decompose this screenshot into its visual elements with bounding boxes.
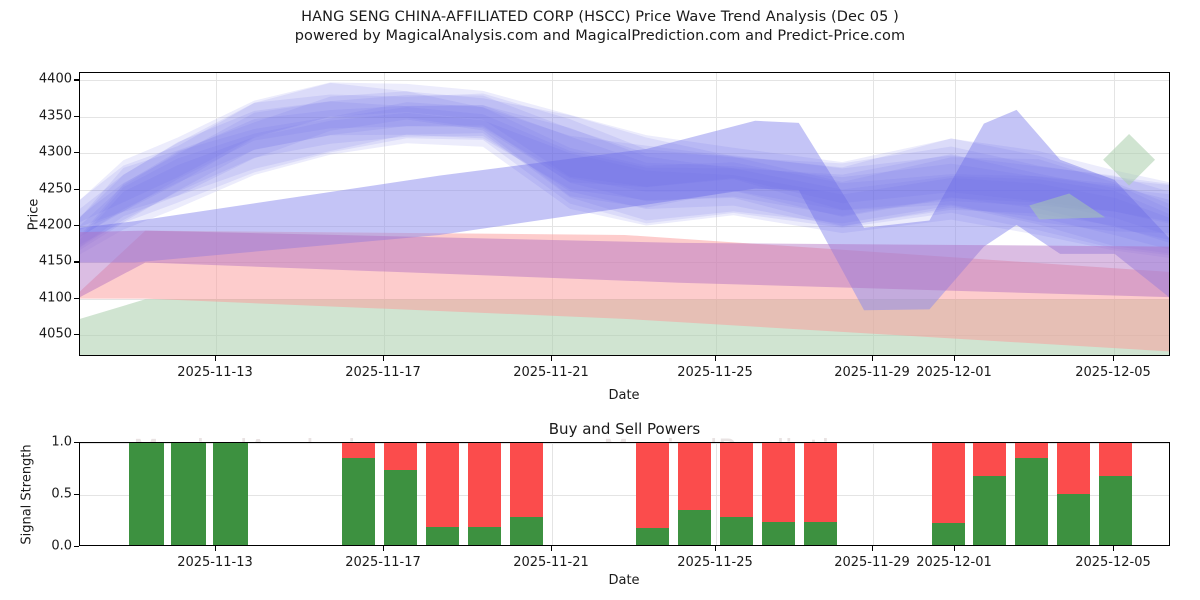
sell-power-segment bbox=[804, 442, 837, 522]
sell-power-segment bbox=[468, 442, 501, 527]
price-y-tick-label: 4300 bbox=[26, 145, 72, 160]
price-x-tick-mark bbox=[383, 356, 384, 361]
price-y-tick-mark bbox=[74, 152, 79, 153]
buy-power-segment bbox=[384, 470, 417, 545]
power-bar[interactable] bbox=[973, 442, 1006, 545]
buy-power-segment bbox=[1099, 476, 1132, 545]
power-chart-title: Buy and Sell Powers bbox=[79, 420, 1170, 438]
buy-power-segment bbox=[1057, 494, 1090, 545]
price-y-tick-label: 4350 bbox=[26, 108, 72, 123]
gridline-vertical bbox=[716, 443, 717, 545]
power-bar[interactable] bbox=[468, 442, 501, 545]
buy-power-segment bbox=[762, 522, 795, 545]
buy-power-segment bbox=[468, 527, 501, 545]
gridline-vertical bbox=[552, 443, 553, 545]
price-x-tick-label: 2025-11-29 bbox=[834, 365, 910, 380]
sell-power-segment bbox=[426, 442, 459, 527]
gridline-vertical bbox=[873, 443, 874, 545]
power-x-tick-mark bbox=[954, 546, 955, 551]
chart-page: HANG SENG CHINA-AFFILIATED CORP (HSCC) P… bbox=[0, 0, 1200, 600]
sell-power-segment bbox=[762, 442, 795, 522]
power-y-tick-label: 1.0 bbox=[38, 435, 72, 450]
sell-power-segment bbox=[384, 442, 417, 470]
power-y-tick-mark bbox=[74, 442, 79, 443]
power-chart-plot-area bbox=[79, 442, 1170, 546]
price-chart-y-axis-title: Price bbox=[27, 175, 42, 255]
power-bar[interactable] bbox=[510, 442, 543, 545]
price-x-tick-mark bbox=[954, 356, 955, 361]
sell-power-segment bbox=[636, 442, 669, 528]
price-y-tick-mark bbox=[74, 116, 79, 117]
buy-power-segment bbox=[804, 522, 837, 545]
page-title: HANG SENG CHINA-AFFILIATED CORP (HSCC) P… bbox=[0, 8, 1200, 27]
chart-title-block: HANG SENG CHINA-AFFILIATED CORP (HSCC) P… bbox=[0, 8, 1200, 46]
power-x-tick-label: 2025-11-29 bbox=[834, 555, 910, 570]
power-bar[interactable] bbox=[213, 442, 248, 545]
buy-power-segment bbox=[720, 517, 753, 545]
price-x-tick-mark bbox=[215, 356, 216, 361]
buy-power-segment bbox=[342, 458, 375, 545]
power-bar[interactable] bbox=[762, 442, 795, 545]
price-x-tick-label: 2025-11-17 bbox=[345, 365, 421, 380]
power-x-tick-mark bbox=[215, 546, 216, 551]
power-x-tick-label: 2025-11-25 bbox=[677, 555, 753, 570]
sell-power-segment bbox=[973, 442, 1006, 476]
page-subtitle: powered by MagicalAnalysis.com and Magic… bbox=[0, 27, 1200, 46]
power-x-tick-mark bbox=[715, 546, 716, 551]
buy-power-segment bbox=[636, 528, 669, 545]
power-bar[interactable] bbox=[1057, 442, 1090, 545]
power-bar[interactable] bbox=[720, 442, 753, 545]
buy-power-segment bbox=[973, 476, 1006, 545]
price-x-tick-mark bbox=[1113, 356, 1114, 361]
price-x-tick-mark bbox=[872, 356, 873, 361]
price-x-tick-mark bbox=[551, 356, 552, 361]
power-chart-x-axis-title: Date bbox=[608, 573, 639, 588]
power-x-tick-label: 2025-12-01 bbox=[916, 555, 992, 570]
power-bar[interactable] bbox=[678, 442, 711, 545]
price-x-tick-mark bbox=[715, 356, 716, 361]
sell-power-segment bbox=[1057, 442, 1090, 494]
sell-power-segment bbox=[1099, 442, 1132, 476]
price-x-tick-label: 2025-11-25 bbox=[677, 365, 753, 380]
buy-power-segment bbox=[213, 442, 248, 545]
price-y-tick-mark bbox=[74, 298, 79, 299]
price-x-tick-label: 2025-12-05 bbox=[1075, 365, 1151, 380]
buy-power-segment bbox=[129, 442, 164, 545]
price-wave-bands bbox=[80, 73, 1169, 355]
price-y-tick-mark bbox=[74, 79, 79, 80]
power-x-tick-mark bbox=[551, 546, 552, 551]
power-x-tick-mark bbox=[383, 546, 384, 551]
sell-power-segment bbox=[932, 442, 965, 523]
power-bar[interactable] bbox=[1015, 442, 1048, 545]
power-bar[interactable] bbox=[129, 442, 164, 545]
power-y-tick-mark bbox=[74, 546, 79, 547]
sell-power-segment bbox=[720, 442, 753, 517]
power-y-tick-label: 0.0 bbox=[38, 539, 72, 554]
buy-power-segment bbox=[932, 523, 965, 545]
power-y-tick-label: 0.5 bbox=[38, 487, 72, 502]
power-x-tick-mark bbox=[1113, 546, 1114, 551]
price-y-tick-mark bbox=[74, 261, 79, 262]
price-y-tick-label: 4400 bbox=[26, 72, 72, 87]
power-bar[interactable] bbox=[426, 442, 459, 545]
price-y-tick-mark bbox=[74, 225, 79, 226]
price-chart-x-axis-title: Date bbox=[608, 388, 639, 403]
power-x-tick-mark bbox=[872, 546, 873, 551]
power-bar[interactable] bbox=[384, 442, 417, 545]
power-bar[interactable] bbox=[636, 442, 669, 545]
buy-power-segment bbox=[171, 442, 206, 545]
power-x-tick-label: 2025-11-13 bbox=[177, 555, 253, 570]
power-x-tick-label: 2025-11-17 bbox=[345, 555, 421, 570]
price-y-tick-mark bbox=[74, 189, 79, 190]
sell-power-segment bbox=[342, 442, 375, 458]
power-y-tick-mark bbox=[74, 494, 79, 495]
price-x-tick-label: 2025-12-01 bbox=[916, 365, 992, 380]
price-chart-plot-area bbox=[79, 72, 1170, 356]
buy-power-segment bbox=[426, 527, 459, 545]
price-y-tick-label: 4100 bbox=[26, 290, 72, 305]
price-x-tick-label: 2025-11-21 bbox=[513, 365, 589, 380]
power-chart-y-axis-title: Signal Strength bbox=[20, 440, 35, 550]
power-bar[interactable] bbox=[804, 442, 837, 545]
buy-power-segment bbox=[1015, 458, 1048, 545]
price-x-tick-label: 2025-11-13 bbox=[177, 365, 253, 380]
buy-power-segment bbox=[510, 517, 543, 545]
power-bar[interactable] bbox=[171, 442, 206, 545]
sell-power-segment bbox=[510, 442, 543, 517]
power-bar[interactable] bbox=[1099, 442, 1132, 545]
price-y-tick-label: 4150 bbox=[26, 254, 72, 269]
price-y-tick-mark bbox=[74, 334, 79, 335]
power-bar[interactable] bbox=[932, 442, 965, 545]
sell-power-segment bbox=[678, 442, 711, 510]
price-y-tick-label: 4050 bbox=[26, 327, 72, 342]
sell-power-segment bbox=[1015, 442, 1048, 458]
power-x-tick-label: 2025-11-21 bbox=[513, 555, 589, 570]
power-x-tick-label: 2025-12-05 bbox=[1075, 555, 1151, 570]
buy-power-segment bbox=[678, 510, 711, 545]
power-bar[interactable] bbox=[342, 442, 375, 545]
